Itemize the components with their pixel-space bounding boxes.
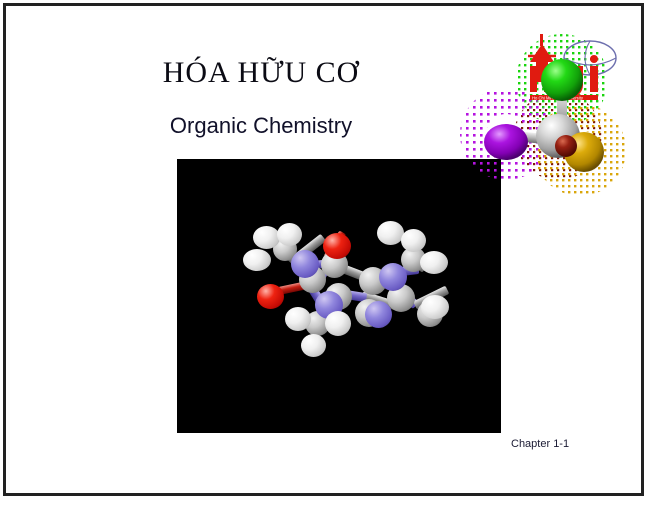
atom-hydrogen bbox=[325, 311, 351, 336]
caffeine-molecule-image bbox=[177, 159, 501, 433]
molecule-render-stage bbox=[177, 159, 501, 433]
atom-chlorine bbox=[541, 59, 583, 101]
slide-frame: HÓA HỮU CƠ Organic Chemistry bbox=[3, 3, 644, 496]
page-subtitle: Organic Chemistry bbox=[66, 113, 456, 139]
atom-hydrogen bbox=[301, 334, 326, 357]
atom-nitrogen bbox=[365, 301, 392, 328]
atom-hydrogen bbox=[285, 307, 311, 331]
atom-oxygen bbox=[323, 233, 351, 259]
atom-oxygen bbox=[257, 284, 284, 309]
logo-graphic: Ho Chi Minh City University bbox=[458, 28, 636, 198]
atom-fluorine bbox=[555, 135, 577, 157]
hui-logo: Ho Chi Minh City University bbox=[458, 28, 636, 198]
slide-canvas: HÓA HỮU CƠ Organic Chemistry bbox=[6, 6, 641, 493]
chapter-label: Chapter 1-1 bbox=[511, 438, 569, 450]
atom-hydrogen bbox=[253, 226, 280, 249]
atom-hydrogen bbox=[420, 251, 448, 274]
page-title: HÓA HỮU CƠ bbox=[66, 56, 456, 90]
atom-hydrogen bbox=[401, 229, 426, 252]
atom-nitrogen bbox=[291, 250, 319, 278]
atom-hydrogen bbox=[277, 223, 302, 246]
atom-hydrogen bbox=[421, 295, 449, 319]
atom-iodine bbox=[484, 124, 528, 160]
atom-nitrogen bbox=[379, 263, 407, 291]
atom-hydrogen bbox=[377, 221, 404, 245]
atom-hydrogen bbox=[243, 249, 271, 271]
